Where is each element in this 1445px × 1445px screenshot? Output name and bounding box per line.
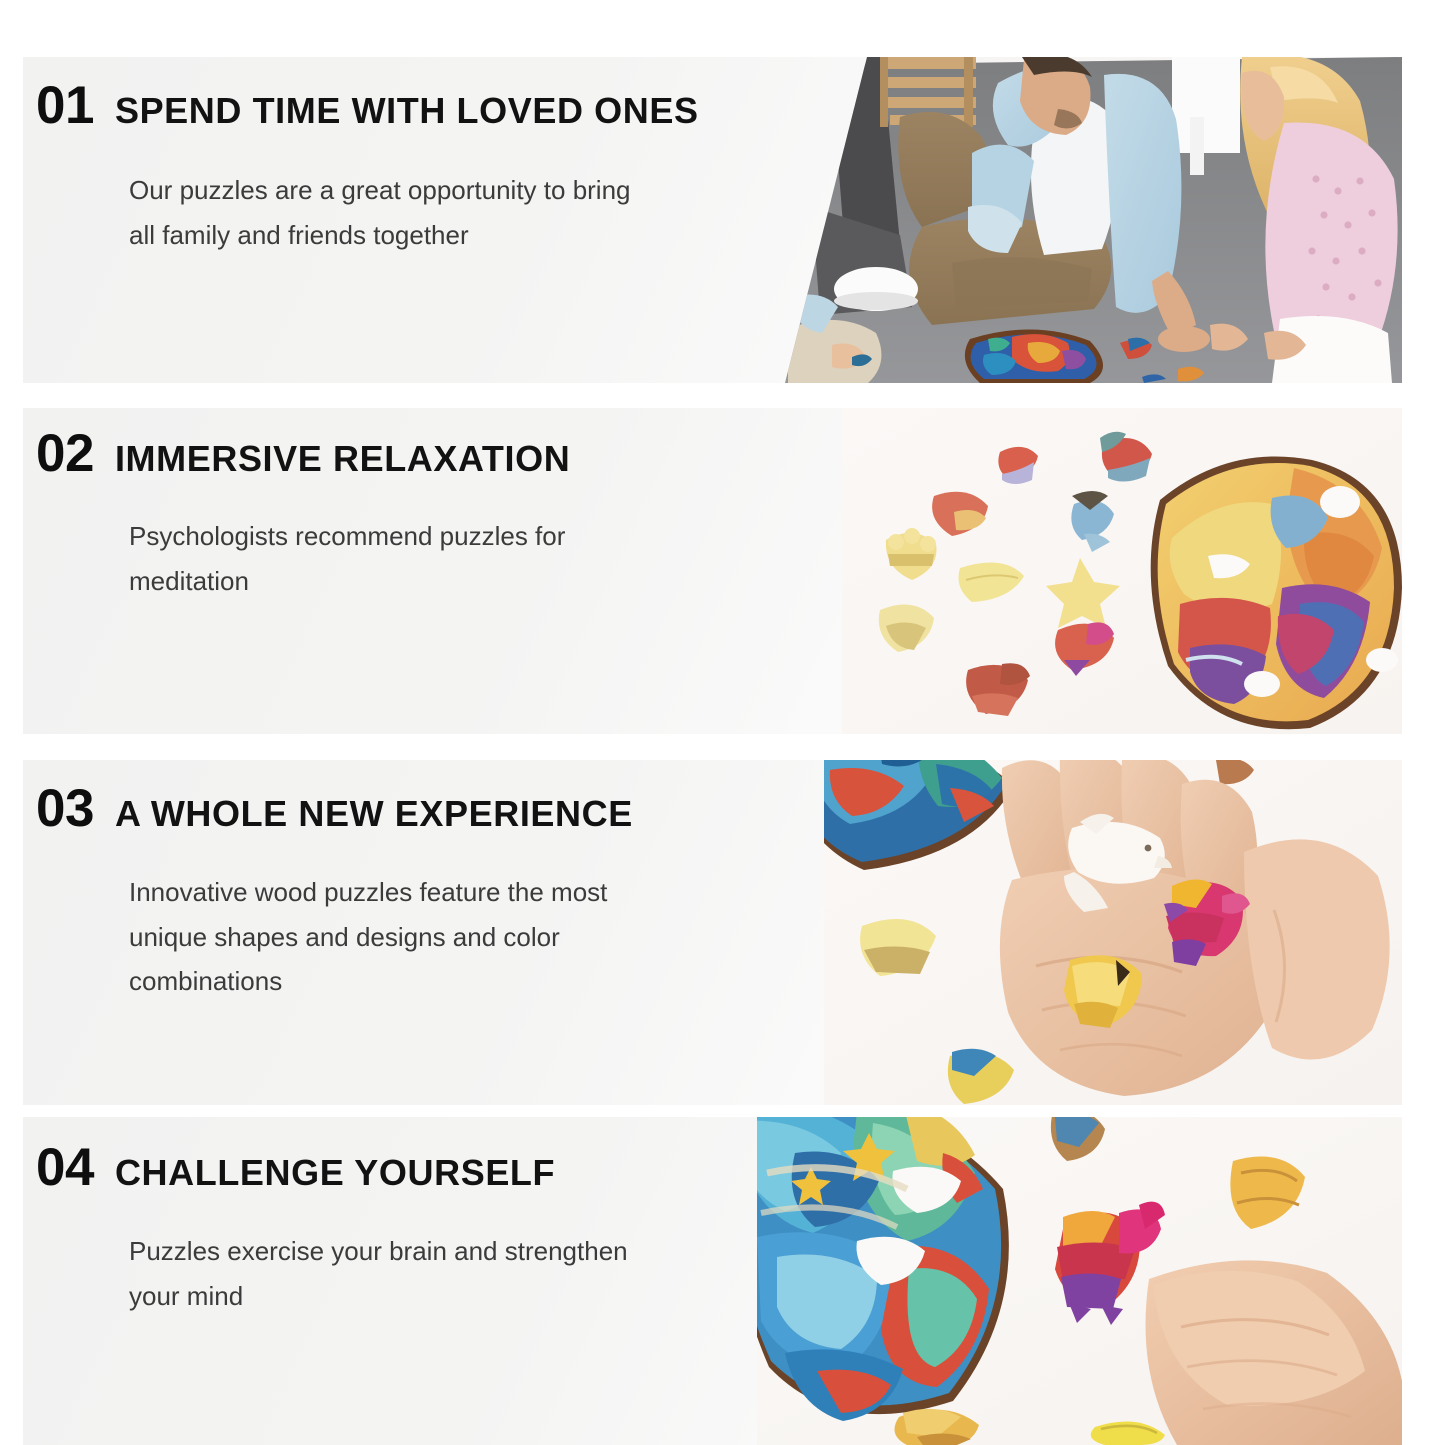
feature-title-01: SPEND TIME WITH LOVED ONES xyxy=(115,93,699,129)
feature-heading-row-01: 01 SPEND TIME WITH LOVED ONES xyxy=(36,79,699,132)
feature-panel-03: 03 A WHOLE NEW EXPERIENCE Innovative woo… xyxy=(23,760,1402,1105)
feature-heading-row-04: 04 CHALLENGE YOURSELF xyxy=(36,1141,628,1194)
feature-body-line: all family and friends together xyxy=(129,213,699,258)
feature-text-01: 01 SPEND TIME WITH LOVED ONES Our puzzle… xyxy=(36,79,699,257)
feature-text-02: 02 IMMERSIVE RELAXATION Psychologists re… xyxy=(36,427,570,603)
feature-title-03: A WHOLE NEW EXPERIENCE xyxy=(115,796,633,832)
feature-number-02: 02 xyxy=(36,427,94,480)
feature-body-line: Innovative wood puzzles feature the most xyxy=(129,870,633,915)
feature-body-line: combinations xyxy=(129,959,633,1004)
feature-heading-row-03: 03 A WHOLE NEW EXPERIENCE xyxy=(36,782,633,835)
feature-photo-01 xyxy=(772,57,1402,383)
feature-heading-row-02: 02 IMMERSIVE RELAXATION xyxy=(36,427,570,480)
feature-body-02: Psychologists recommend puzzles for medi… xyxy=(129,514,570,603)
feature-title-04: CHALLENGE YOURSELF xyxy=(115,1155,555,1191)
feature-body-line: Puzzles exercise your brain and strength… xyxy=(129,1229,628,1274)
feature-number-01: 01 xyxy=(36,79,94,132)
feature-body-line: meditation xyxy=(129,559,570,604)
feature-body-line: unique shapes and designs and color xyxy=(129,915,633,960)
feature-title-02: IMMERSIVE RELAXATION xyxy=(115,441,570,477)
feature-body-01: Our puzzles are a great opportunity to b… xyxy=(129,168,699,257)
feature-body-04: Puzzles exercise your brain and strength… xyxy=(129,1229,628,1318)
feature-body-line: Our puzzles are a great opportunity to b… xyxy=(129,168,699,213)
feature-text-03: 03 A WHOLE NEW EXPERIENCE Innovative woo… xyxy=(36,782,633,1004)
feature-photo-03 xyxy=(824,760,1402,1105)
feature-panel-04: 04 CHALLENGE YOURSELF Puzzles exercise y… xyxy=(23,1117,1402,1445)
feature-photo-04 xyxy=(757,1117,1402,1445)
feature-text-04: 04 CHALLENGE YOURSELF Puzzles exercise y… xyxy=(36,1141,628,1318)
feature-body-line: your mind xyxy=(129,1274,628,1319)
feature-number-04: 04 xyxy=(36,1141,94,1194)
feature-panel-01: 01 SPEND TIME WITH LOVED ONES Our puzzle… xyxy=(23,57,1402,383)
feature-number-03: 03 xyxy=(36,782,94,835)
feature-list-page: 01 SPEND TIME WITH LOVED ONES Our puzzle… xyxy=(0,0,1445,1445)
feature-panel-02: 02 IMMERSIVE RELAXATION Psychologists re… xyxy=(23,408,1402,734)
feature-photo-02 xyxy=(842,408,1402,734)
feature-body-line: Psychologists recommend puzzles for xyxy=(129,514,570,559)
feature-body-03: Innovative wood puzzles feature the most… xyxy=(129,870,633,1004)
